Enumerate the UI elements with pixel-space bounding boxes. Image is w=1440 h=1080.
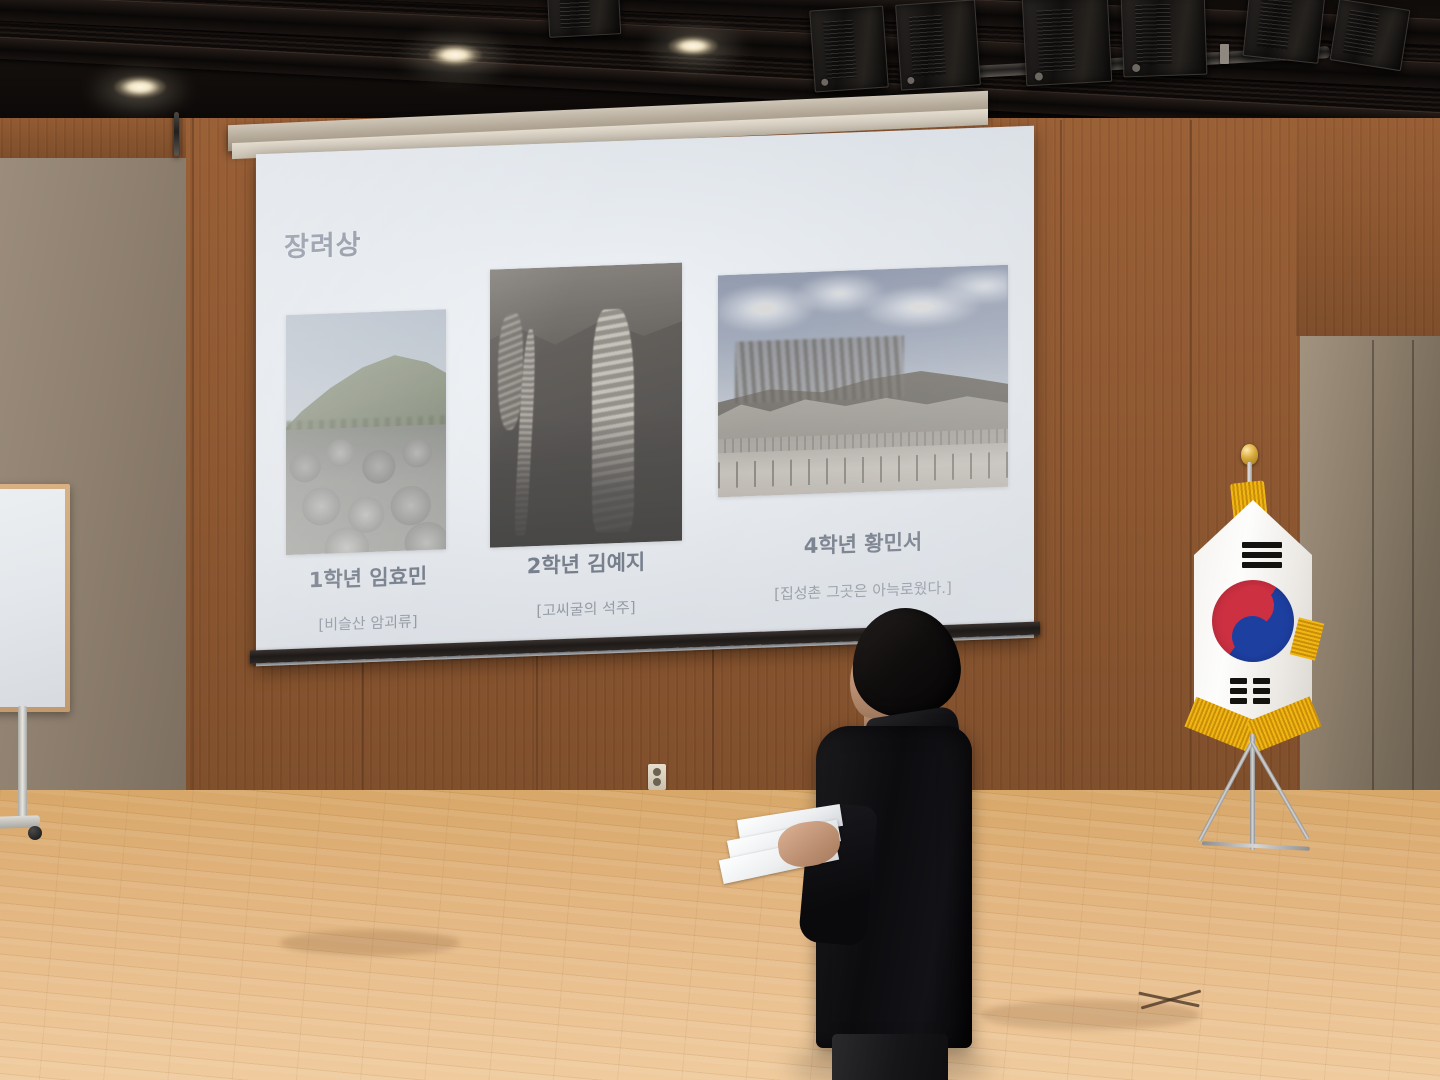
whiteboard-surface[interactable]	[0, 489, 65, 707]
floor-scuff-1	[280, 930, 460, 956]
presenter	[700, 600, 1030, 1080]
fixture-knob	[821, 79, 828, 86]
whiteboard-stand-post	[18, 706, 27, 824]
stage-light-fixture-3	[1022, 0, 1112, 86]
photo3-trees	[735, 335, 903, 403]
fixture-knob	[907, 77, 914, 84]
entry-name-2: 2학년 김예지	[488, 545, 684, 582]
entry-name-3: 4학년 황민서	[734, 523, 992, 562]
alcove-seam-b	[1412, 340, 1414, 830]
entry-caption-2: [고씨굴의 석주]	[486, 594, 686, 622]
photo1-boulders	[286, 425, 446, 556]
photo2-foreground-shadow	[490, 413, 682, 548]
wall-wood-above-alcove	[1296, 96, 1440, 336]
photo-cave-pillar	[490, 263, 682, 548]
stage-light-rig	[0, 0, 1440, 118]
stage-light-fixture-4	[1121, 0, 1208, 77]
wall-outlet	[648, 764, 666, 790]
trigram-gon	[1230, 678, 1270, 704]
fixture-knob	[1035, 72, 1043, 80]
flag-stand-leg-left	[1198, 741, 1254, 842]
truss-clamp-2	[1220, 44, 1229, 64]
wall-taupe-left	[0, 104, 186, 820]
stage-light-fixture-7	[547, 0, 622, 38]
auditorium-scene: 장려상 1학년 임효민	[0, 0, 1440, 1080]
whiteboard[interactable]	[0, 484, 70, 712]
photo-traditional-village	[718, 265, 1008, 498]
flag-stand-foot-bar	[1202, 841, 1310, 851]
photo2-flowstone-drape	[498, 313, 523, 431]
trigram-geon	[1242, 542, 1282, 568]
stage-light-fixture-1	[809, 6, 889, 93]
korean-flag-assembly	[1184, 438, 1374, 858]
stage-light-fixture-2	[895, 0, 981, 91]
trousers	[832, 1034, 948, 1080]
flag-stand-leg-right	[1250, 741, 1309, 840]
stage-light-fixture-6	[1330, 0, 1411, 71]
slide-title: 장려상	[284, 222, 362, 264]
ceiling	[0, 0, 1440, 118]
entry-caption-1: [비슬산 암괴류]	[272, 609, 464, 637]
whiteboard-caster-right	[28, 826, 42, 840]
projection-screen: 장려상 1학년 임효민	[256, 126, 1034, 667]
taeguk-symbol	[1212, 580, 1294, 662]
screen-support-rod	[174, 112, 179, 156]
photo-boulder-field	[286, 309, 446, 555]
stage-light-fixture-5	[1243, 0, 1326, 64]
entry-name-1: 1학년 임효민	[272, 559, 464, 596]
wall-seam-6	[1060, 120, 1062, 820]
fixture-knob	[1132, 64, 1140, 72]
wall-seam-1	[192, 100, 194, 830]
